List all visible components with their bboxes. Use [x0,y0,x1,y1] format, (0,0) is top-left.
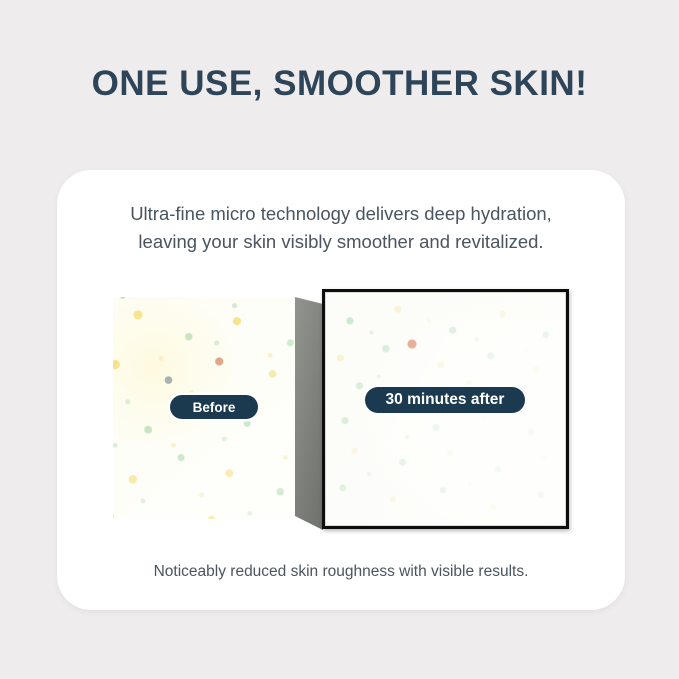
comparison-card: Ultra-fine micro technology delivers dee… [57,170,625,610]
card-subtitle-line-2: leaving your skin visibly smoother and r… [57,228,625,256]
after-label-badge: 30 minutes after [365,387,525,413]
card-subtitle-line-1: Ultra-fine micro technology delivers dee… [130,203,552,224]
card-caption: Noticeably reduced skin roughness with v… [57,563,625,581]
perspective-side-face [295,297,323,530]
before-label-badge: Before [170,395,258,419]
page-title: ONE USE, SMOOTHER SKIN! [0,64,679,104]
card-subtitle: Ultra-fine micro technology delivers dee… [57,200,625,256]
before-after-comparison: Before 30 minutes after [57,282,625,542]
